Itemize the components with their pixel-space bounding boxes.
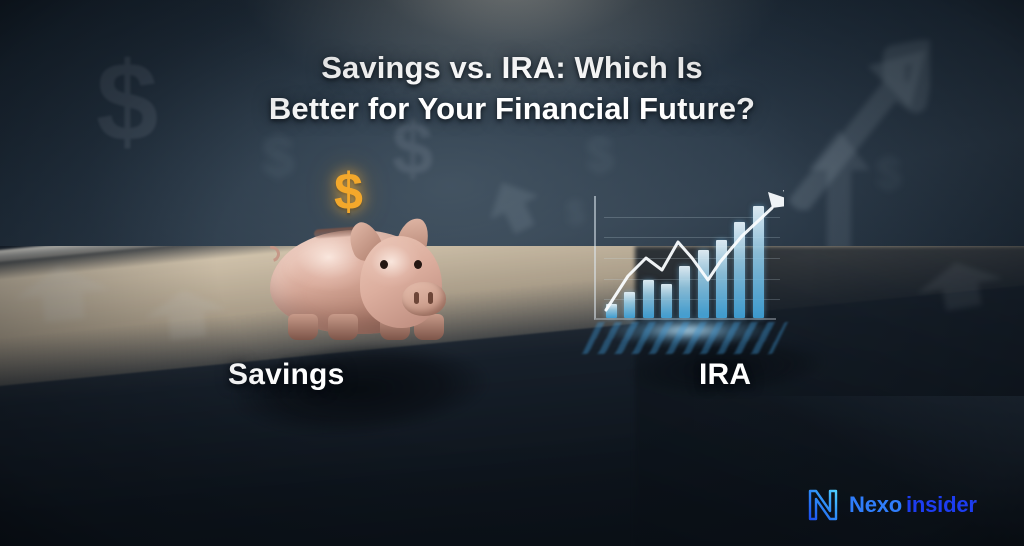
piggy-bank-illustration: $ (262, 168, 462, 358)
piggy-nostril (414, 292, 419, 304)
page-title-line-1: Savings vs. IRA: Which Is (321, 50, 702, 85)
tall-up-arrow-right-icon (806, 126, 872, 252)
piggy-leg (328, 314, 358, 340)
page-title-line-2: Better for Your Financial Future? (92, 89, 932, 130)
nexo-n-monogram-icon (806, 488, 840, 522)
label-ira: IRA (699, 358, 751, 392)
piggy-leg (288, 314, 318, 340)
small-up-arrow-mid-icon (474, 166, 552, 244)
brand-name-secondary: insider (906, 492, 977, 517)
piggy-snout (402, 282, 446, 316)
piggy-eye (414, 260, 422, 269)
poster-canvas: $$$$$$$$ (0, 0, 1024, 546)
brand-wordmark: Nexoinsider (849, 492, 977, 518)
piggy-bank-body-group (262, 216, 462, 352)
trend-arrow-line (588, 190, 784, 331)
page-title: Savings vs. IRA: Which Is Better for You… (0, 48, 1024, 130)
brand-name-primary: Nexo (849, 492, 902, 517)
hologram-floor-reflection (582, 322, 788, 354)
piggy-nostril (428, 292, 433, 304)
dollar-coin-icon: $ (334, 166, 363, 218)
piggy-eye (380, 260, 388, 269)
dollar-watermark-icon: $ (566, 196, 585, 230)
ira-growth-chart (588, 196, 784, 346)
floor-arrow-left-icon (7, 259, 116, 328)
floor-arrow-left-2-icon (138, 283, 235, 344)
brand-logo[interactable]: Nexoinsider (806, 488, 977, 522)
label-savings: Savings (228, 358, 344, 392)
dollar-watermark-icon: $ (586, 130, 614, 180)
